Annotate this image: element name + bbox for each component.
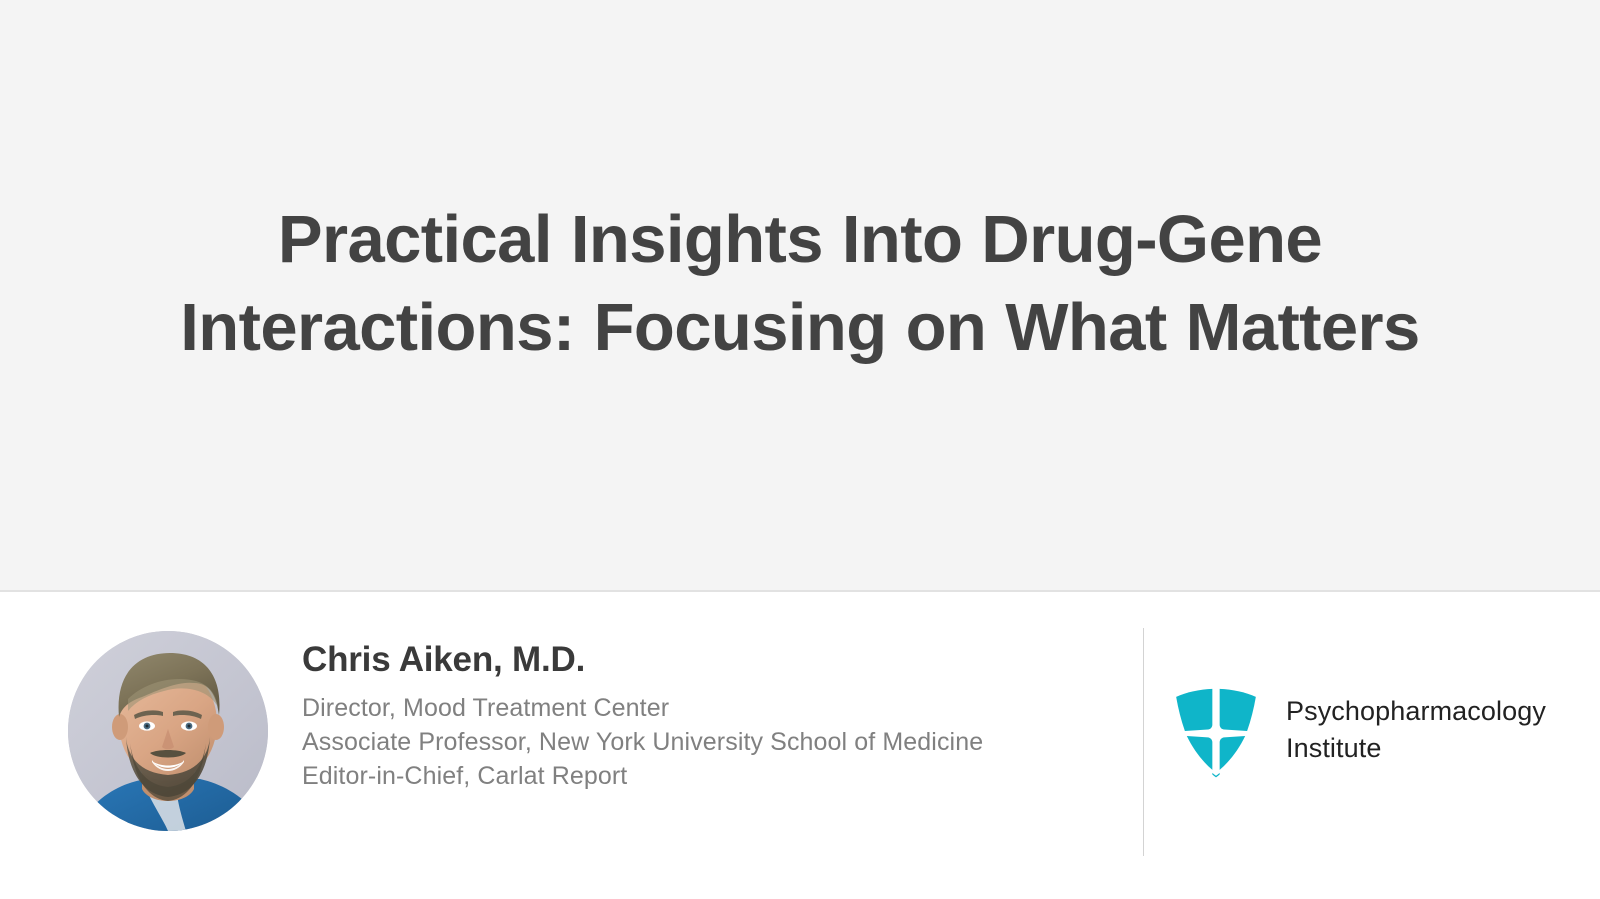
- presenter-text: Chris Aiken, M.D. Director, Mood Treatme…: [302, 638, 1102, 793]
- avatar: [68, 631, 268, 831]
- brand-name: Psychopharmacology Institute: [1286, 693, 1546, 767]
- title-band: Practical Insights Into Drug-Gene Intera…: [0, 0, 1600, 592]
- presenter-affiliation-3: Editor-in-Chief, Carlat Report: [302, 759, 1102, 793]
- vertical-divider: [1143, 628, 1144, 856]
- page-title: Practical Insights Into Drug-Gene Intera…: [150, 196, 1450, 372]
- title-block: Practical Insights Into Drug-Gene Intera…: [0, 196, 1600, 372]
- presenter-name: Chris Aiken, M.D.: [302, 638, 1102, 682]
- presenter-block: Chris Aiken, M.D. Director, Mood Treatme…: [0, 594, 1140, 899]
- presenter-affiliation-1: Director, Mood Treatment Center: [302, 691, 1102, 725]
- presenter-band: Chris Aiken, M.D. Director, Mood Treatme…: [0, 594, 1600, 899]
- avatar-photo: [68, 631, 268, 831]
- shield-quadrant-icon: [1168, 682, 1264, 778]
- slide: Practical Insights Into Drug-Gene Intera…: [0, 0, 1600, 899]
- presenter-affiliation-2: Associate Professor, New York University…: [302, 725, 1102, 759]
- brand-block: Psychopharmacology Institute: [1168, 682, 1546, 778]
